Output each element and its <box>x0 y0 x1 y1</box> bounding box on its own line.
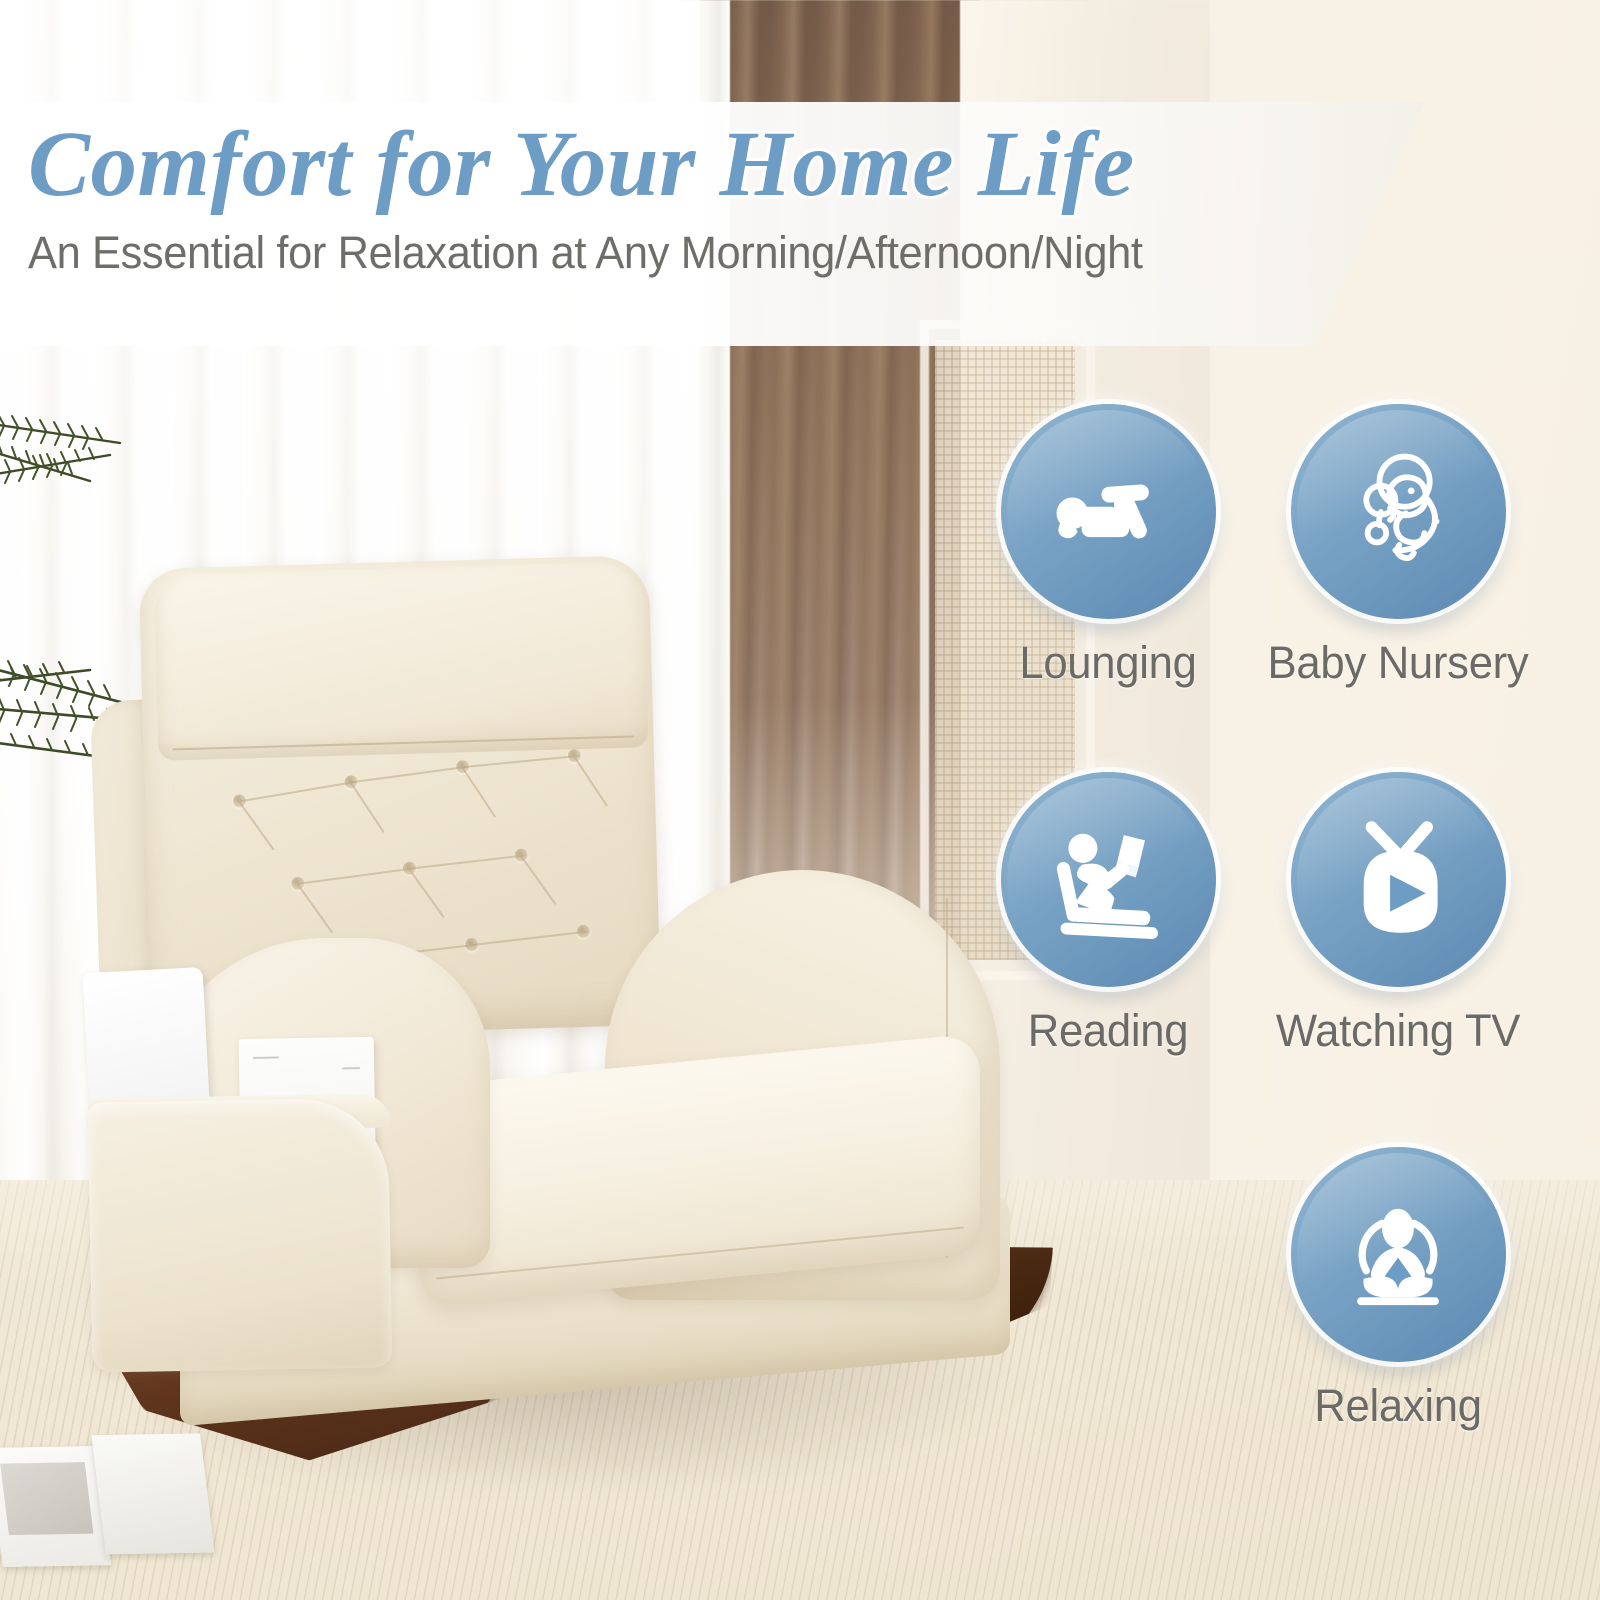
rocking-chair: SENSITIVE <box>60 540 1020 1440</box>
feature-badge-circle <box>1001 772 1216 987</box>
product-lifestyle-image: SENSITIVE Comfort for Your Home Life An … <box>0 0 1600 1600</box>
fern-frond-upper-icon <box>0 385 180 515</box>
feature-lounging[interactable]: Lounging <box>958 404 1258 689</box>
floor-magazine <box>0 1427 218 1582</box>
feature-label: Lounging <box>963 637 1254 689</box>
feature-label: Watching TV <box>1253 1005 1544 1057</box>
page-title: Comfort for Your Home Life <box>28 116 1425 215</box>
magazine-photo <box>0 1462 93 1535</box>
feature-badge-circle <box>1291 1147 1506 1362</box>
feature-reading[interactable]: Reading <box>958 772 1258 1057</box>
page-subtitle: An Essential for Relaxation at Any Morni… <box>28 227 1376 279</box>
side-storage-pocket <box>88 1097 393 1372</box>
feature-watching-tv[interactable]: Watching TV <box>1248 772 1548 1057</box>
headline-banner: Comfort for Your Home Life An Essential … <box>0 102 1425 346</box>
feature-label: Reading <box>963 1005 1254 1057</box>
person-reading-icon <box>1042 814 1174 946</box>
feature-baby-nursery[interactable]: Baby Nursery <box>1248 404 1548 689</box>
meditating-person-icon <box>1332 1189 1464 1321</box>
feature-relaxing[interactable]: Relaxing <box>1248 1147 1548 1432</box>
person-lounging-icon <box>1042 446 1174 578</box>
feature-badge-circle <box>1291 404 1506 619</box>
feature-label: Relaxing <box>1253 1380 1544 1432</box>
feature-badge-circle <box>1291 772 1506 987</box>
feature-label: Baby Nursery <box>1253 637 1544 689</box>
magazine-right-page <box>91 1433 214 1554</box>
chair-headrest <box>153 561 648 761</box>
feature-badge-circle <box>1001 404 1216 619</box>
television-play-icon <box>1332 814 1464 946</box>
mother-and-baby-icon <box>1332 446 1464 578</box>
